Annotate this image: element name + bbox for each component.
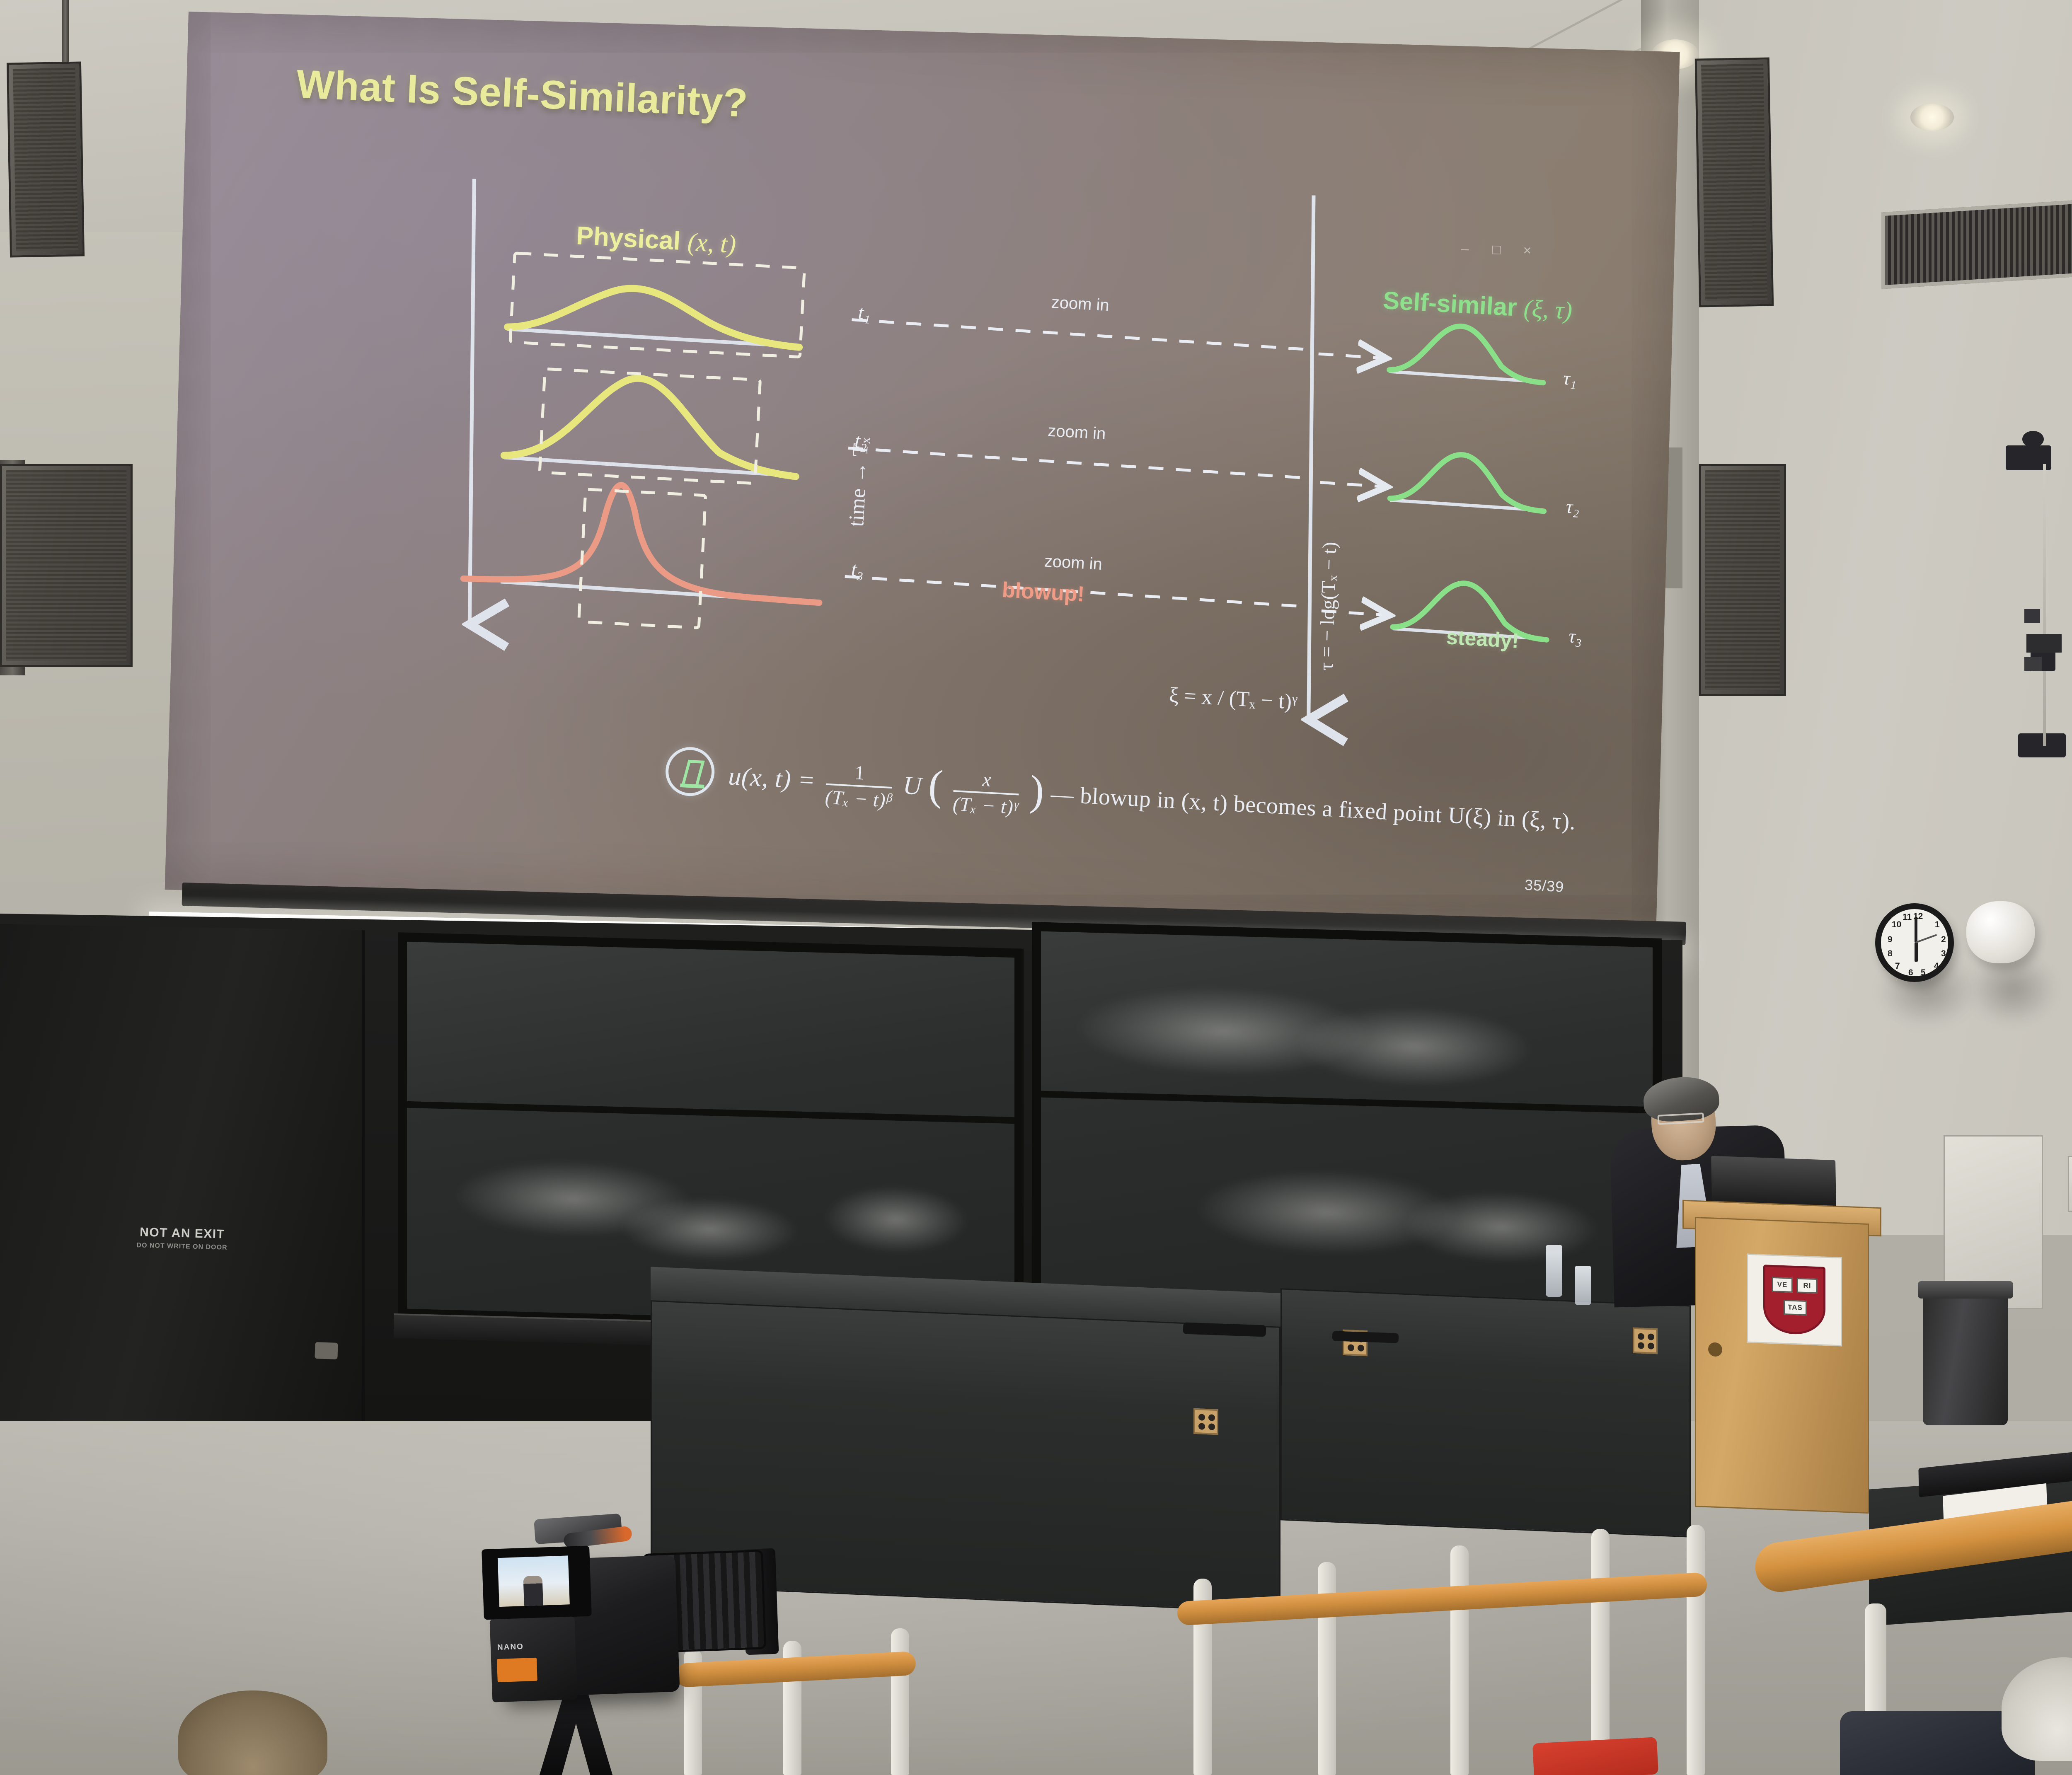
clock-numeral: 12 [1913, 912, 1923, 921]
trash-can-lid [1918, 1281, 2013, 1299]
ceiling-vent [1881, 198, 2072, 289]
hanging-speaker [0, 464, 133, 667]
wall-mount-plate [2024, 609, 2040, 623]
clock-numeral: 11 [1903, 912, 1912, 922]
door-sign-line1: NOT AN EXIT [137, 1225, 228, 1242]
power-outlet[interactable] [1633, 1328, 1658, 1354]
tau-label-row2: τ₂ [1565, 496, 1580, 518]
panel-row3-physical-blowup [462, 481, 822, 631]
clock-numeral: 8 [1888, 949, 1893, 959]
aisle-rail-post [891, 1628, 909, 1775]
zoom-label-row2: zoom in [1047, 422, 1106, 444]
formula-fraction-1: 1 (Tₓ − t)ᵝ [825, 762, 893, 811]
hanging-speaker [7, 61, 85, 257]
clock-numeral: 10 [1892, 920, 1901, 930]
formula-frac2-denominator: (Tₓ − t)ᵞ [952, 790, 1019, 817]
door-handle[interactable] [315, 1342, 338, 1359]
time-label-row3: t₃ [851, 558, 864, 581]
water-bottle[interactable] [1546, 1249, 1562, 1297]
wall-camera-lens-icon [2022, 431, 2044, 447]
clock-numeral: 3 [1941, 949, 1946, 959]
hanging-cable [2043, 464, 2046, 746]
camera-field-monitor[interactable] [482, 1546, 592, 1620]
time-axis-arrow [462, 179, 482, 624]
presentation-slide: What Is Self-Similarity? – □ × Physical … [165, 12, 1680, 930]
blowup-annotation: blowup! [1001, 578, 1085, 607]
power-outlet[interactable] [1193, 1408, 1218, 1435]
clock-hour-hand [1915, 943, 1918, 962]
lecture-hall-photo: EXIT 12 1 2 3 4 5 6 7 8 9 10 11 What Is … [0, 0, 2072, 1775]
water-bottle[interactable] [1575, 1266, 1591, 1305]
aisle-rail-post [1450, 1545, 1469, 1775]
door-sign: NOT AN EXIT DO NOT WRITE ON DOOR [136, 1225, 228, 1252]
slide-page-number: 35/39 [1524, 876, 1564, 896]
formula-frac2-numerator: x [982, 770, 992, 792]
tau-label-row1: τ₁ [1563, 367, 1577, 390]
chalkboard-right [1032, 922, 1662, 1324]
presenter-laptop[interactable] [1711, 1156, 1836, 1206]
ceiling-speaker [1966, 901, 2035, 963]
panel-row2-physical [503, 368, 799, 485]
podium-cable-port [1708, 1342, 1722, 1357]
pencil-base-icon [680, 784, 704, 788]
formula-paren-open: ( [927, 761, 944, 810]
crest-shield-icon: VE RI TAS [1763, 1265, 1825, 1335]
zoom-label-row1: zoom in [1051, 293, 1110, 315]
clock-numeral: 1 [1935, 920, 1940, 930]
clock-numeral: 2 [1941, 935, 1946, 945]
light-switch-plate[interactable] [2068, 1156, 2072, 1212]
pencil-icon [664, 746, 716, 797]
wall-mount-plate [2026, 634, 2062, 653]
side-door[interactable] [0, 924, 365, 1427]
zoom-label-row3: zoom in [1044, 552, 1103, 574]
panel-row1-physical [507, 253, 805, 357]
vent-mesh-icon [1885, 202, 2072, 285]
wall-clock: 12 1 2 3 4 5 6 7 8 9 10 11 [1875, 903, 1954, 982]
wall-camera [2018, 733, 2066, 757]
monitor-preview-speaker [523, 1576, 543, 1606]
camera-battery-label: NANO [497, 1642, 524, 1652]
ceiling-light [1910, 104, 1954, 131]
clock-numeral: 4 [1934, 961, 1939, 971]
time-label-row1: t₁ [857, 301, 871, 325]
projection-screen: What Is Self-Similarity? – □ × Physical … [165, 12, 1680, 930]
wall-mount-plate [2024, 657, 2042, 671]
bottle-cap [1546, 1245, 1562, 1253]
zoom-connector-row2 [848, 448, 1304, 478]
speaker-grill-icon [6, 470, 126, 661]
zoom-arrow-row1 [1318, 354, 1383, 358]
panel-row2-selfsimilar [1390, 453, 1545, 511]
speaker-grill-icon [13, 68, 78, 251]
speaker-shadow [1968, 953, 2057, 1025]
time-label-row2: t₂ [854, 429, 868, 453]
hanging-speaker [1695, 57, 1774, 307]
hanging-speaker [1699, 464, 1786, 696]
formula-fraction-2: x (Tₓ − t)ᵞ [952, 768, 1020, 817]
clock-numeral: 5 [1921, 968, 1926, 978]
formula-operator-U: U [902, 771, 922, 800]
camera-battery-sticker [497, 1658, 537, 1682]
crest-book-ri: RI [1797, 1278, 1818, 1294]
panel-row1-selfsimilar [1389, 324, 1544, 383]
aisle-rail-post [1591, 1529, 1610, 1775]
formula-frac1-numerator: 1 [854, 763, 865, 786]
clock-numeral: 7 [1895, 961, 1900, 971]
speaker-grill-icon [1701, 64, 1767, 301]
clock-numeral: 6 [1908, 968, 1913, 978]
clock-numeral: 9 [1888, 935, 1893, 945]
crest-book-tas: TAS [1784, 1300, 1807, 1316]
trash-can [1923, 1289, 2008, 1425]
aisle-rail-post [1687, 1525, 1705, 1775]
zoom-arrow-row2 [1320, 482, 1384, 486]
speaker-grill-icon [1705, 470, 1780, 690]
demo-table-right [1280, 1288, 1691, 1537]
tau-axis-arrow [1300, 196, 1323, 720]
formula-lhs: u(x, t) = [728, 762, 816, 795]
steady-annotation: steady! [1446, 625, 1520, 653]
speaker-mount-rod [62, 0, 69, 66]
tau-label-row3: τ₃ [1568, 625, 1583, 648]
formula-paren-close: ) [1029, 767, 1046, 815]
clock-second-hand [1915, 934, 1937, 943]
harvard-crest-plaque: VE RI TAS [1747, 1254, 1842, 1347]
auditorium-seat [1532, 1737, 1658, 1775]
formula-frac1-denominator: (Tₓ − t)ᵝ [825, 784, 892, 811]
zoom-connector-row1 [851, 320, 1307, 350]
zoom-arrow-row3 [1322, 611, 1387, 615]
pencil-body-icon [682, 760, 704, 784]
camera-battery: NANO [490, 1616, 578, 1702]
monitor-preview-image [498, 1555, 570, 1607]
crest-book-ve: VE [1772, 1277, 1793, 1293]
